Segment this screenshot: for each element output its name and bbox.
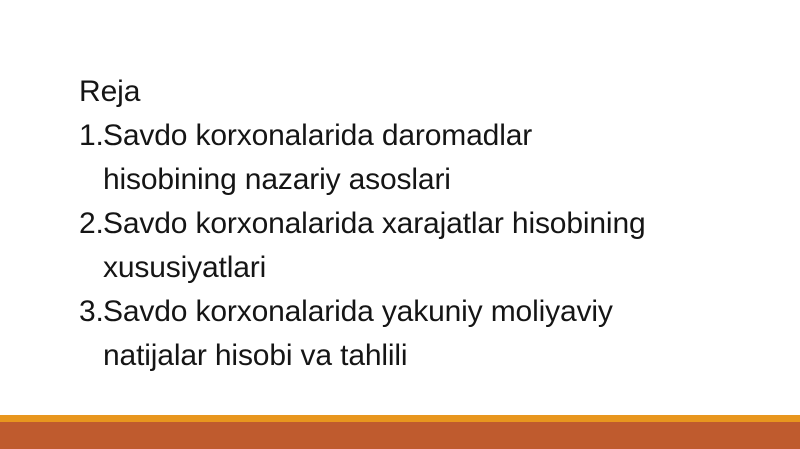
slide-footer-bar — [0, 415, 800, 449]
list-item-line: hisobining nazariy asoslari — [103, 158, 759, 202]
list-item-line: Savdo korxonalarida daromadlar — [103, 114, 759, 158]
list-item-text: Savdo korxonalarida xarajatlar hisobinin… — [103, 202, 759, 290]
list-item-text: Savdo korxonalarida yakuniy moliyaviy na… — [103, 290, 759, 378]
list-item: 1. Savdo korxonalarida daromadlar hisobi… — [79, 114, 759, 202]
list-item-number: 1. — [79, 114, 103, 158]
list-item-line: natijalar hisobi va tahlili — [103, 334, 759, 378]
footer-accent-stripe — [0, 415, 800, 422]
agenda-list: 1. Savdo korxonalarida daromadlar hisobi… — [79, 114, 759, 378]
list-item-line: Savdo korxonalarida yakuniy moliyaviy — [103, 290, 759, 334]
list-item: 2. Savdo korxonalarida xarajatlar hisobi… — [79, 202, 759, 290]
list-item-number: 2. — [79, 202, 103, 246]
list-item-number: 3. — [79, 290, 103, 334]
list-item-line: xususiyatlari — [103, 246, 759, 290]
list-item-line: Savdo korxonalarida xarajatlar hisobinin… — [103, 202, 759, 246]
list-item-text: Savdo korxonalarida daromadlar hisobinin… — [103, 114, 759, 202]
presentation-slide: Reja 1. Savdo korxonalarida daromadlar h… — [0, 0, 800, 449]
list-item: 3. Savdo korxonalarida yakuniy moliyaviy… — [79, 290, 759, 378]
page-title: Reja — [79, 70, 759, 114]
slide-content-block: Reja 1. Savdo korxonalarida daromadlar h… — [79, 70, 759, 378]
footer-main-stripe — [0, 422, 800, 449]
